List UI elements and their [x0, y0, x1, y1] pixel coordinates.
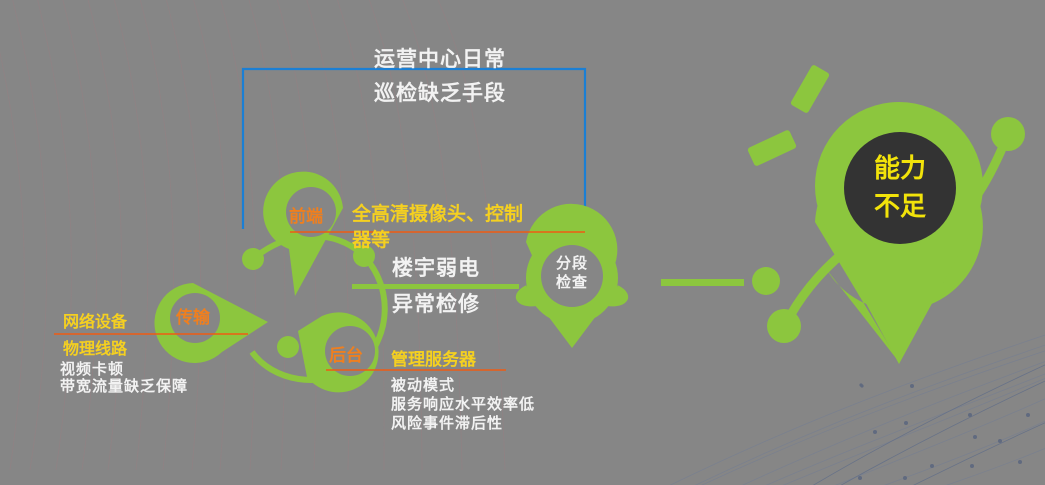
backend-issue-2: 风险事件滞后性 — [391, 412, 503, 433]
backend-issue-1: 服务响应水平效率低 — [391, 393, 535, 414]
diagram-canvas: 运营中心日常 巡检缺乏手段 前端 全高清摄像头、控制器等 楼宇弱电 异常检修 传… — [0, 0, 1045, 485]
transmission-title-line2: 物理线路 — [63, 335, 127, 359]
text-layer: 运营中心日常 巡检缺乏手段 前端 全高清摄像头、控制器等 楼宇弱电 异常检修 传… — [0, 0, 1045, 485]
segment-check-line2: 检查 — [542, 271, 602, 292]
header-line2: 巡检缺乏手段 — [290, 77, 590, 107]
pin-label-transmission: 传输 — [176, 303, 210, 328]
header-line1: 运营中心日常 — [290, 43, 590, 73]
center-label-line2: 异常检修 — [352, 288, 520, 318]
transmission-title-line1: 网络设备 — [63, 308, 127, 332]
capability-line2: 不足 — [850, 186, 950, 223]
pin-label-frontend: 前端 — [289, 202, 323, 227]
frontend-title: 全高清摄像头、控制器等 — [352, 201, 532, 253]
pin-label-backend: 后台 — [329, 341, 363, 366]
backend-title: 管理服务器 — [391, 345, 476, 370]
segment-check-line1: 分段 — [542, 252, 602, 273]
center-label-line1: 楼宇弱电 — [352, 252, 520, 282]
transmission-issue-1: 带宽流量缺乏保障 — [60, 375, 188, 396]
backend-issue-0: 被动模式 — [391, 374, 455, 395]
capability-line1: 能力 — [850, 148, 950, 185]
